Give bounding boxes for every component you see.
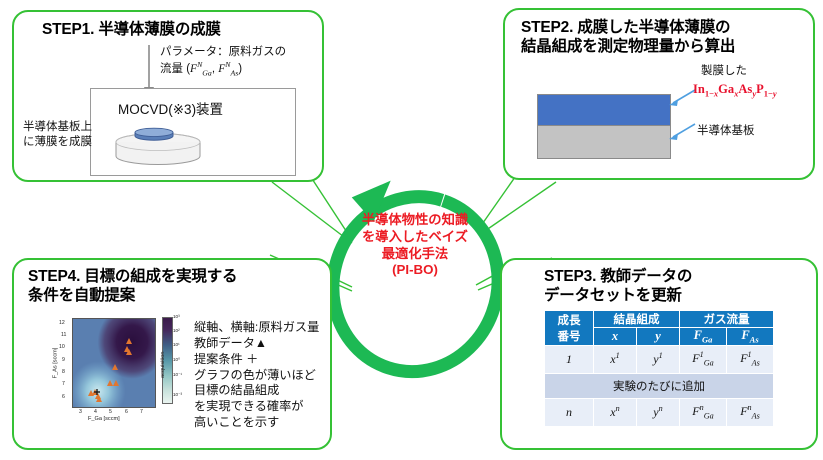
step1-parameter-note: パラメータ：原料ガスの 流量 (FNGa, FNAs) bbox=[160, 45, 286, 78]
hub-label: 半導体物性の知識 を導入したベイズ 最適化手法 (PI-BO) bbox=[330, 212, 500, 279]
step2-title: STEP2. 成膜した半導体薄膜の 結晶組成を測定物理量から算出 bbox=[521, 19, 811, 57]
hub-line-3: 最適化手法 bbox=[382, 246, 448, 261]
hub-line-1: 半導体物性の知識 bbox=[362, 212, 468, 227]
film-composition-formula: In1−xGaxAsyP1−y bbox=[693, 82, 777, 99]
ytick-9: 9 bbox=[62, 357, 65, 363]
cell-fga-n: FnGa bbox=[680, 398, 727, 426]
callout-step1: STEP1. 半導体薄膜の成膜 パラメータ：原料ガスの 流量 (FNGa, FN… bbox=[12, 10, 324, 182]
ytick-6: 6 bbox=[62, 394, 65, 400]
step1-param-line2: 流量 (FNGa, FNAs) bbox=[160, 63, 242, 75]
cell-fas-n: FnAs bbox=[727, 398, 774, 426]
cell-y-1: y1 bbox=[637, 345, 680, 373]
deposited-caption: 製膜した bbox=[701, 62, 747, 78]
hub-line-4: (PI-BO) bbox=[392, 262, 438, 277]
step3-title-line1: STEP3. 教師データの bbox=[544, 268, 692, 285]
step4-title-line1: STEP4. 目標の組成を実現する bbox=[28, 268, 237, 285]
cbar-tick-1: 10² bbox=[173, 328, 180, 333]
cell-fga-1: F1Ga bbox=[680, 345, 727, 373]
legend-line-6: を実現できる確率が bbox=[194, 399, 303, 413]
xtick-3: 3 bbox=[79, 409, 82, 415]
colorbar-label: acquisition bbox=[160, 352, 166, 378]
step4-title: STEP4. 目標の組成を実現する 条件を自動提案 bbox=[28, 268, 328, 306]
callout-step3: STEP3. 教師データの データセットを更新 成長 番号 結晶組成 ガス流量 … bbox=[500, 258, 818, 450]
acquisition-heatmap bbox=[72, 318, 156, 408]
legend-line-1: 縦軸、横軸:原料ガス量 bbox=[194, 320, 319, 334]
center-hub: 半導体物性の知識 を導入したベイズ 最適化手法 (PI-BO) bbox=[330, 168, 500, 348]
th-y: y bbox=[637, 328, 680, 346]
table-header-row-group: 成長 番号 結晶組成 ガス流量 bbox=[545, 311, 774, 328]
ytick-11: 11 bbox=[61, 332, 66, 338]
ytick-10: 10 bbox=[59, 344, 65, 350]
cell-y-n: yn bbox=[637, 398, 680, 426]
mocvd-equipment-label: MOCVD(※3)装置 bbox=[118, 98, 223, 118]
step3-title: STEP3. 教師データの データセットを更新 bbox=[544, 268, 692, 306]
legend-line-4: グラフの色が薄いほど bbox=[194, 368, 316, 382]
legend-line-2: 教師データ▲ bbox=[194, 336, 267, 350]
cell-index-1: 1 bbox=[545, 345, 594, 373]
cbar-tick-5: 10⁻³ bbox=[173, 392, 182, 398]
ytick-7: 7 bbox=[62, 381, 65, 387]
step2-title-line2: 結晶組成を測定物理量から算出 bbox=[521, 38, 735, 55]
callout-step4: STEP4. 目標の組成を実現する 条件を自動提案 bbox=[12, 258, 332, 450]
ytick-12: 12 bbox=[59, 320, 65, 326]
step4-legend-text: 縦軸、横軸:原料ガス量 教師データ▲ 提案条件 ＋ グラフの色が薄いほど 目標の… bbox=[194, 320, 319, 431]
table-row: 1 x1 y1 F1Ga F1As bbox=[545, 345, 774, 373]
step2-title-line1: STEP2. 成膜した半導体薄膜の bbox=[521, 19, 730, 36]
substrate-pointer-arrow-icon bbox=[667, 120, 699, 142]
th-f-as: FAs bbox=[727, 328, 774, 346]
y-axis-label: F_As [sccm] bbox=[52, 348, 58, 379]
cbar-tick-4: 10⁻¹ bbox=[173, 372, 182, 378]
step1-substrate-note: 半導体基板上 に薄膜を成膜 bbox=[23, 120, 92, 150]
xtick-4: 4 bbox=[94, 409, 97, 415]
cbar-tick-0: 10³ bbox=[173, 314, 180, 319]
table-row: n xn yn FnGa FnAs bbox=[545, 398, 774, 426]
cbar-tick-3: 10⁰ bbox=[173, 357, 180, 363]
susceptor-illustration bbox=[112, 124, 204, 170]
th-crystal-composition: 結晶組成 bbox=[594, 311, 680, 328]
substrate-caption: 半導体基板 bbox=[697, 122, 755, 138]
xtick-7: 7 bbox=[140, 409, 143, 415]
callout-step2: STEP2. 成膜した半導体薄膜の 結晶組成を測定物理量から算出 製膜した In… bbox=[503, 8, 815, 180]
step1-param-line1: パラメータ：原料ガスの bbox=[160, 46, 286, 58]
diagram-canvas: STEP1. 半導体薄膜の成膜 パラメータ：原料ガスの 流量 (FNGa, FN… bbox=[0, 0, 823, 460]
step3-title-line2: データセットを更新 bbox=[544, 287, 682, 304]
cell-append-note: 実験のたびに追加 bbox=[545, 373, 774, 398]
cell-x-1: x1 bbox=[594, 345, 637, 373]
cell-index-n: n bbox=[545, 398, 594, 426]
x-axis-label: F_Ga [sccm] bbox=[88, 416, 120, 422]
cell-x-n: xn bbox=[594, 398, 637, 426]
th-f-ga: FGa bbox=[680, 328, 727, 346]
step4-title-line2: 条件を自動提案 bbox=[28, 287, 135, 304]
xtick-5: 5 bbox=[109, 409, 112, 415]
th-x: x bbox=[594, 328, 637, 346]
step1-title: STEP1. 半導体薄膜の成膜 bbox=[42, 21, 221, 40]
cbar-tick-2: 10¹ bbox=[173, 342, 180, 347]
th-growth-number: 成長 番号 bbox=[545, 311, 594, 346]
dataset-table: 成長 番号 結晶組成 ガス流量 x y FGa FAs 1 x1 y1 F1Ga… bbox=[544, 310, 774, 427]
table-merged-row: 実験のたびに追加 bbox=[545, 373, 774, 398]
legend-line-7: 高いことを示す bbox=[194, 415, 279, 429]
substrate-layer bbox=[537, 125, 671, 159]
heatmap-field bbox=[73, 319, 155, 407]
hub-line-2: を導入したベイズ bbox=[362, 229, 468, 244]
legend-line-3: 提案条件 ＋ bbox=[194, 352, 258, 366]
deposited-film-layer bbox=[537, 94, 671, 128]
legend-line-5: 目標の結晶組成 bbox=[194, 383, 279, 397]
cell-fas-1: F1As bbox=[727, 345, 774, 373]
ytick-8: 8 bbox=[62, 369, 65, 375]
wafer-icon bbox=[135, 128, 173, 140]
xtick-6: 6 bbox=[125, 409, 128, 415]
th-gas-flow: ガス流量 bbox=[680, 311, 774, 328]
acquisition-plot: 12 11 10 9 8 7 6 3 4 5 6 7 F_As [sccm] F… bbox=[58, 316, 158, 426]
